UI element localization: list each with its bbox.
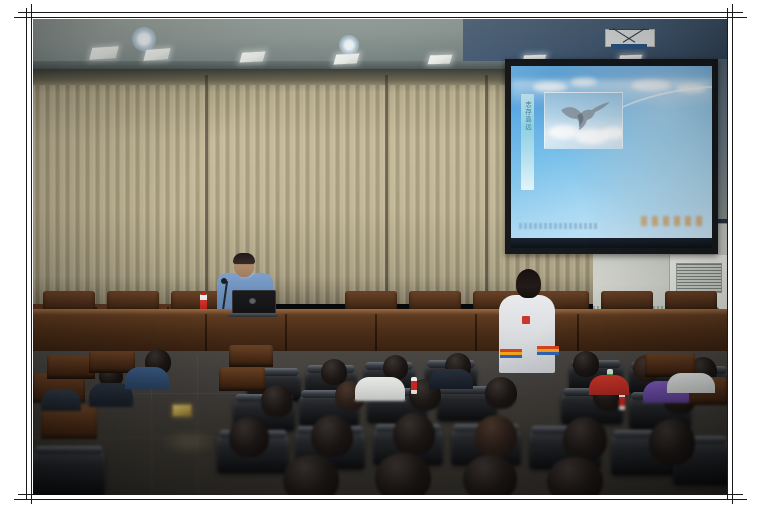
frame-line-left-outer — [26, 8, 27, 500]
ceiling-panel-light — [428, 55, 453, 65]
audience-head — [649, 419, 695, 465]
standing-person-jacket — [499, 295, 555, 373]
speaker-hair — [233, 253, 255, 264]
frame-line-right-outer — [727, 8, 728, 500]
frame-line-top-outer — [18, 12, 743, 13]
audience-dark-shirt — [429, 369, 473, 389]
audience-bottle-red — [411, 377, 417, 394]
audience-white-shirt — [355, 377, 405, 401]
ceiling-panel-light — [89, 46, 119, 60]
audience-head — [229, 417, 269, 457]
projection-screen: 志存高远 — [511, 66, 712, 238]
audience-head — [393, 413, 435, 455]
curtain-seam — [385, 75, 388, 303]
standing-person-head — [516, 269, 541, 298]
audience-head — [311, 415, 353, 457]
frame-line-left-inner — [31, 4, 32, 504]
audience-head — [547, 457, 603, 495]
audience-head — [563, 417, 607, 461]
ceiling-spotlight — [339, 35, 359, 55]
ceiling-right-section — [463, 19, 727, 63]
seat-headrest — [35, 446, 103, 454]
projector-icon — [605, 27, 653, 51]
frame-line-right-inner — [732, 4, 733, 504]
eagle-icon — [559, 101, 611, 131]
slide-banner-text: 志存高远 — [524, 101, 532, 131]
audience-head — [261, 385, 293, 417]
air-conditioner-grille-icon — [676, 263, 722, 293]
slide-vertical-banner: 志存高远 — [521, 94, 534, 190]
audience-head — [475, 415, 517, 457]
curtain-seam — [485, 75, 488, 303]
jacket-logo-icon — [522, 316, 530, 324]
water-bottle-label — [200, 300, 207, 309]
audience-head — [321, 359, 347, 385]
aisle-seat-back — [47, 355, 95, 379]
audience-head — [283, 455, 339, 495]
floor-outlet-plate — [172, 404, 192, 417]
water-bottle-cap — [201, 292, 206, 295]
audience-head — [573, 351, 599, 377]
jacket-stripe — [500, 355, 522, 358]
audience-blue-shirt — [125, 367, 169, 389]
lecture-hall-photograph: 志存高远 — [33, 19, 727, 495]
frame-line-bottom-inner — [14, 499, 747, 500]
slide-footer-text — [519, 223, 599, 229]
frame-line-top-inner — [14, 17, 747, 18]
audience-white-shirt — [667, 373, 715, 393]
aisle-seat-back — [219, 367, 265, 391]
audience-dark-shirt — [41, 389, 81, 411]
laptop-logo-icon — [249, 298, 256, 304]
floor-reflection — [159, 429, 219, 455]
curtain-seam — [205, 75, 208, 303]
audience-head — [463, 455, 517, 495]
photo-page: 志存高远 — [0, 0, 759, 512]
auditorium-seat — [33, 449, 105, 495]
aisle-seat-back — [229, 345, 273, 367]
audience-head — [485, 377, 517, 409]
audience-head — [375, 453, 431, 495]
audience-red-shirt — [589, 375, 629, 395]
ceiling-panel-light — [333, 53, 359, 64]
aisle-seat-back — [89, 351, 135, 373]
jacket-stripe — [537, 352, 559, 355]
head-table-top — [33, 309, 727, 314]
screen-bottom-bar — [511, 238, 712, 248]
slide-eagle-image — [544, 92, 623, 149]
ceiling-spotlight — [132, 27, 156, 51]
laptop-base — [228, 313, 278, 317]
audience-bottle-red — [619, 393, 625, 410]
slide-corner-text — [641, 216, 703, 226]
ceiling-panel-light — [239, 51, 265, 62]
microphone-icon — [221, 278, 227, 284]
